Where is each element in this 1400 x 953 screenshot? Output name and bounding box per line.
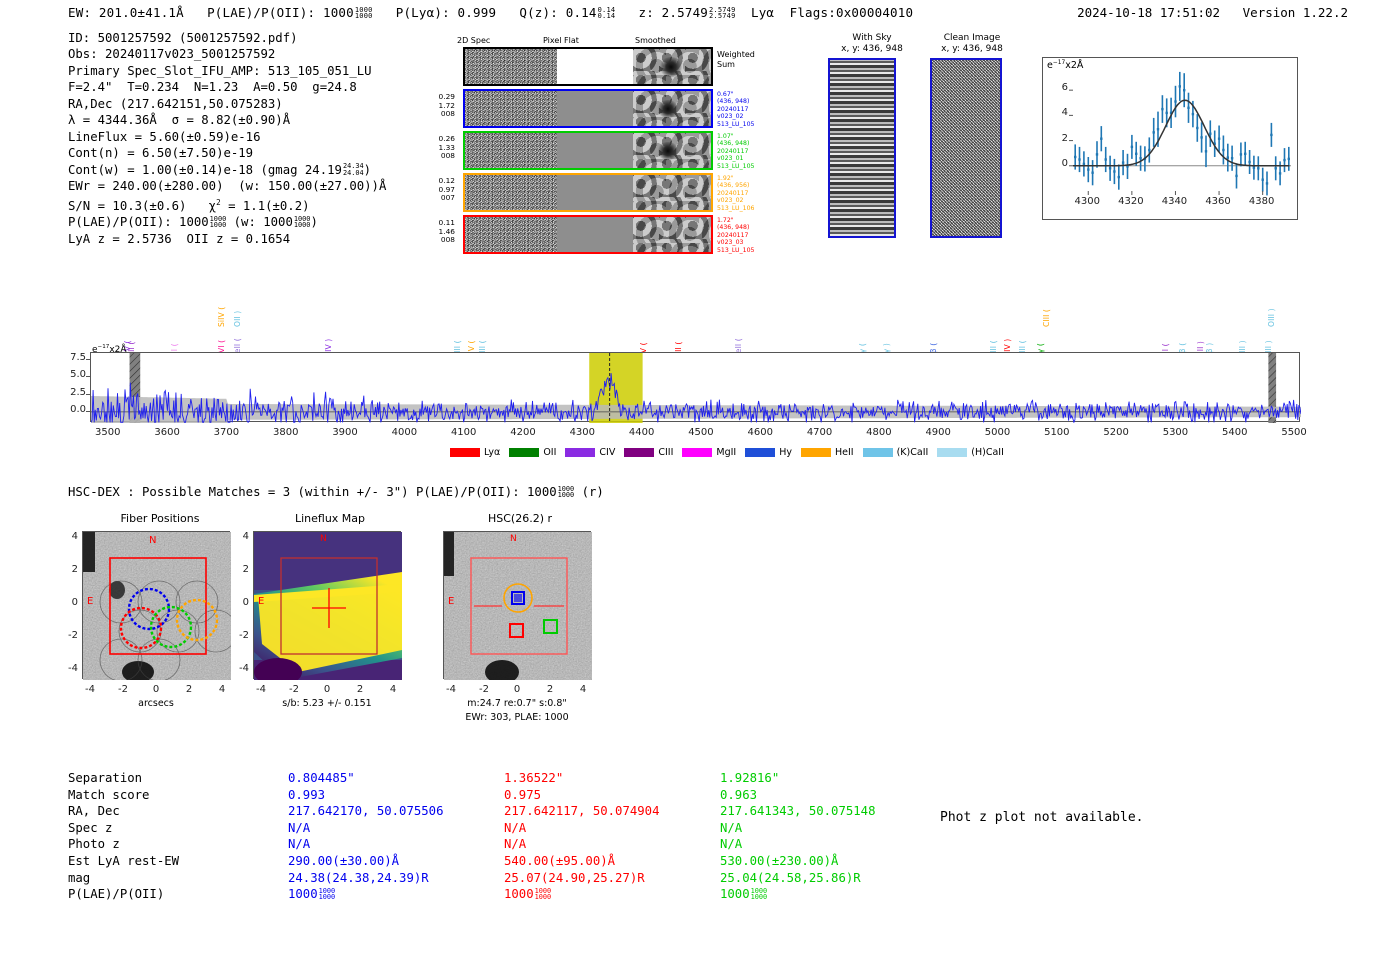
match-row-label: Photo z xyxy=(68,836,179,853)
ws-smoothed-image xyxy=(633,49,711,84)
spectrum-xtick: 4900 xyxy=(916,427,960,438)
fiber-emission-blob xyxy=(657,100,679,118)
match-value: 290.00(±30.00)Å xyxy=(288,853,443,870)
lower-xtick: 0 xyxy=(143,684,169,695)
emission-line-label: OIII ) xyxy=(1267,308,1276,327)
inset-ytick: 2 xyxy=(1052,133,1068,144)
header-z: z: 2.5749 xyxy=(638,5,708,20)
info-plae-w-dn: 1000 xyxy=(294,222,311,228)
inset-xtick: 4340 xyxy=(1157,196,1191,207)
legend-swatch xyxy=(565,448,595,457)
spectrum-xtick: 4200 xyxy=(501,427,545,438)
emission-line-label: CIII ( xyxy=(1042,309,1051,327)
match-value: 0.975 xyxy=(504,787,659,804)
fiber-smoothed-image xyxy=(633,91,711,126)
fiber-meta: 513_LU_105 xyxy=(717,163,761,170)
compass-north-fiber: N xyxy=(149,535,156,546)
match-row-label: Spec z xyxy=(68,820,179,837)
inset-ytick: 4 xyxy=(1052,107,1068,118)
spectrum-xtick: 4300 xyxy=(560,427,604,438)
header-ew: EW: 201.0±41.1Å xyxy=(68,5,184,20)
panel-title-lineflux-map: Lineflux Map xyxy=(230,512,430,525)
inset-ytick: 0 xyxy=(1052,158,1068,169)
fiber-pixelflat-image xyxy=(557,91,633,126)
hsc-r-caption-1: m:24.7 re:0.7" s:0.8" xyxy=(443,698,591,709)
match-row-label: Separation xyxy=(68,770,179,787)
fiber-meta: 1.07" xyxy=(717,133,761,140)
spectrum-xtick: 5000 xyxy=(976,427,1020,438)
hscdex-header-dn: 1000 xyxy=(558,492,575,498)
spectrum-xtick: 4500 xyxy=(679,427,723,438)
full-spectrum-chart xyxy=(90,352,1300,422)
legend-swatch xyxy=(801,448,831,457)
spectrum-ytick-mark xyxy=(86,411,90,412)
lower-xtick: 4 xyxy=(380,684,406,695)
lower-xtick: -2 xyxy=(281,684,307,695)
match-row-label: mag xyxy=(68,870,179,887)
emission-line-label: OII ) xyxy=(233,311,242,327)
hsc-r-svg xyxy=(444,532,592,680)
fiber-2dspec-image xyxy=(465,133,557,168)
lower-xtick: 4 xyxy=(209,684,235,695)
header-qz: Q(z): 0.14 xyxy=(519,5,596,20)
fiber-pixelflat-image xyxy=(557,175,633,210)
match-value: N/A xyxy=(288,820,443,837)
match-row-label: RA, Dec xyxy=(68,803,179,820)
fiber-positions-svg xyxy=(83,532,231,680)
legend-item: Hy xyxy=(745,447,792,458)
lower-ytick: 4 xyxy=(229,531,249,542)
clean-image xyxy=(930,58,1002,238)
spectrum-xtick: 3500 xyxy=(86,427,130,438)
header-plae-dn: 1000 xyxy=(355,13,373,19)
legend-label: Lyα xyxy=(484,447,500,458)
header-datetime: 2024-10-18 17:51:02 xyxy=(1077,5,1220,20)
legend-item: MgII xyxy=(682,447,736,458)
fiber-2dspec-image xyxy=(465,91,557,126)
match-column: 0.804485"0.993217.642170, 50.075506N/AN/… xyxy=(288,770,443,903)
compass-east-hsc: E xyxy=(448,596,454,607)
lineflux-map-svg xyxy=(254,532,402,680)
fiber-meta: 513_LU_105 xyxy=(717,247,761,254)
ws-emission-blob xyxy=(659,57,683,77)
match-plae: 100010001000 xyxy=(720,886,875,903)
spectrum-xtick: 3900 xyxy=(323,427,367,438)
inset-xtick: 4320 xyxy=(1114,196,1148,207)
fiber-right-meta: 1.07"(436, 948)20240117v023_01513_LU_105 xyxy=(717,133,761,170)
legend-item: Lyα xyxy=(450,447,500,458)
match-value: 24.38(24.38,24.39)R xyxy=(288,870,443,887)
info-obs: Obs: 20240117v023_5001257592 xyxy=(68,46,386,62)
info-seeing: F=2.4" T=0.234 N=1.23 A=0.50 g=24.8 xyxy=(68,79,386,95)
spectrum-xtick: 5400 xyxy=(1213,427,1257,438)
lower-ytick: 4 xyxy=(58,531,78,542)
with-sky-image xyxy=(828,58,896,238)
info-id: ID: 5001257592 (5001257592.pdf) xyxy=(68,30,386,46)
fiber-right-meta: 1.72"(436, 948)20240117v023_03513_LU_105 xyxy=(717,217,761,254)
match-value: 0.993 xyxy=(288,787,443,804)
match-column: 1.36522"0.975217.642117, 50.074904N/AN/A… xyxy=(504,770,659,903)
match-value: 217.641343, 50.075148 xyxy=(720,803,875,820)
lower-ytick: -4 xyxy=(229,663,249,674)
fiber-right-meta: 1.92"(436, 956)20240117v023_02513_LU_106 xyxy=(717,175,761,212)
spectrum-xtick: 5100 xyxy=(1035,427,1079,438)
lower-xtick: 0 xyxy=(504,684,530,695)
header-flags: Flags:0x00004010 xyxy=(790,5,914,20)
info-cont-w-pre: Cont(w) = 1.00(±0.14)e-18 (gmag 24.19 xyxy=(68,163,342,177)
match-value: 1.36522" xyxy=(504,770,659,787)
info-primary-spec: Primary Spec_Slot_IFU_AMP: 513_105_051_L… xyxy=(68,63,386,79)
lower-xtick: -4 xyxy=(248,684,274,695)
spectrum-ytick: 5.0 xyxy=(58,369,86,380)
fiber-stat: 008 xyxy=(425,236,455,245)
matches-row-labels: SeparationMatch scoreRA, DecSpec zPhoto … xyxy=(68,770,179,903)
fiber-smoothed-image xyxy=(633,133,711,168)
legend-item: CIV xyxy=(565,447,615,458)
header-z-dn: 2.5749 xyxy=(709,13,736,19)
lineflux-map-caption: s/b: 5.23 +/- 0.151 xyxy=(253,698,401,709)
lower-xtick: 4 xyxy=(570,684,596,695)
match-value: N/A xyxy=(504,836,659,853)
weighted-sum-label: Weighted Sum xyxy=(717,50,755,69)
spectrum-ytick: 7.5 xyxy=(58,352,86,363)
fiber-right-meta: 0.67"(436, 948)20240117v023_02513_LU_105 xyxy=(717,91,761,128)
fiber-positions-caption: arcsecs xyxy=(82,698,230,709)
legend-swatch xyxy=(682,448,712,457)
header-lya: Lyα xyxy=(751,5,774,20)
match-value: N/A xyxy=(504,820,659,837)
fiber-strip xyxy=(463,173,713,212)
spectrum-ytick-mark xyxy=(86,376,90,377)
emission-line-legend: Lyα OII CIV CIII MgII Hy HeII (K)CaII (H… xyxy=(450,447,1004,458)
match-value: 0.804485" xyxy=(288,770,443,787)
hsc-r-image: N E xyxy=(443,531,591,679)
fiber-meta: 513_LU_105 xyxy=(717,121,761,128)
hsc-r-caption-2: EWr: 303, PLAE: 1000 xyxy=(443,712,591,723)
match-row-label: P(LAE)/P(OII) xyxy=(68,886,179,903)
fiber-smoothed-image xyxy=(633,217,711,252)
fiber-meta: 20240117 xyxy=(717,190,761,197)
spectrum-flux-units: e−17x2Å xyxy=(92,344,127,355)
header-version: Version 1.22.2 xyxy=(1243,5,1348,20)
info-cont-w-post: ) xyxy=(364,163,371,177)
two-d-spectrum-panel: 2D Spec Pixel Flat Smoothed Weighted Sum… xyxy=(425,36,785,252)
header-plae: P(LAE)/P(OII): 1000 xyxy=(207,5,354,20)
match-value: N/A xyxy=(720,836,875,853)
legend-label: CIV xyxy=(599,447,615,458)
info-cont-n: Cont(n) = 6.50(±7.50)e-19 xyxy=(68,145,386,161)
spectrum-xtick: 4600 xyxy=(738,427,782,438)
compass-north-lfmap: N xyxy=(320,534,327,544)
cutout-with-sky-title: With Sky xyxy=(852,33,891,43)
spectrum-xtick: 5200 xyxy=(1094,427,1138,438)
lineflux-map-image: N E xyxy=(253,531,401,679)
match-value: N/A xyxy=(720,820,875,837)
hscdex-header-post: (r) xyxy=(574,485,604,499)
fiber-meta: (436, 948) xyxy=(717,224,761,231)
info-plae-dn: 1000 xyxy=(210,222,227,228)
lower-xtick: -4 xyxy=(438,684,464,695)
lower-ytick: 0 xyxy=(58,597,78,608)
spectrum-ytick: 2.5 xyxy=(58,387,86,398)
match-row-label: Match score xyxy=(68,787,179,804)
info-plae: P(LAE)/P(OII): 100010001000 (w: 10001000… xyxy=(68,214,386,230)
cutout-clean-coords: x, y: 436, 948 xyxy=(941,44,1003,54)
fiber-meta: 20240117 xyxy=(717,232,761,239)
fiber-meta: v023_03 xyxy=(717,239,761,246)
spectrum-ytick-mark xyxy=(86,359,90,360)
spectrum-xtick: 3600 xyxy=(145,427,189,438)
match-value: 217.642170, 50.075506 xyxy=(288,803,443,820)
legend-label: HeII xyxy=(835,447,854,458)
legend-label: OII xyxy=(543,447,556,458)
spectrum-ytick-mark xyxy=(86,394,90,395)
lower-ytick: -4 xyxy=(58,663,78,674)
lower-xtick: 2 xyxy=(176,684,202,695)
photz-unavailable-note: Phot z plot not available. xyxy=(940,810,1144,825)
match-value: 530.00(±230.00)Å xyxy=(720,853,875,870)
full-spectrum-svg xyxy=(91,353,1301,423)
header-datetime-version: 2024-10-18 17:51:02 Version 1.22.2 xyxy=(1077,5,1348,20)
info-radec: RA,Dec (217.642151,50.075283) xyxy=(68,96,386,112)
inset-xtick: 4300 xyxy=(1070,196,1104,207)
compass-north-hsc: N xyxy=(510,534,517,544)
fiber-strip xyxy=(463,89,713,128)
legend-item: (K)CaII xyxy=(863,447,929,458)
legend-swatch xyxy=(624,448,654,457)
match-value: 0.963 xyxy=(720,787,875,804)
match-plae: 100010001000 xyxy=(288,886,443,903)
fiber-left-stats: 0.261.33008 xyxy=(425,135,455,161)
spectrum-xtick: 4400 xyxy=(620,427,664,438)
fiber-strip xyxy=(463,215,713,254)
match-value: 1.92816" xyxy=(720,770,875,787)
legend-item: HeII xyxy=(801,447,854,458)
lower-xtick: -2 xyxy=(110,684,136,695)
fiber-emission-blob xyxy=(657,142,679,160)
fiber-meta: (436, 956) xyxy=(717,182,761,189)
legend-label: CIII xyxy=(658,447,673,458)
spectrum-xtick: 4000 xyxy=(382,427,426,438)
match-value: 217.642117, 50.074904 xyxy=(504,803,659,820)
fiber-2dspec-image xyxy=(465,217,557,252)
info-redshifts: LyA z = 2.5736 OII z = 0.1654 xyxy=(68,231,386,247)
legend-label: Hy xyxy=(779,447,792,458)
ws-pixelflat-image xyxy=(557,49,633,84)
header-plya: P(Lyα): 0.999 xyxy=(396,5,496,20)
fiber-meta: v023_01 xyxy=(717,155,761,162)
fiber-2dspec-image xyxy=(465,175,557,210)
info-ewr: EWr = 240.00(±280.00) (w: 150.00(±27.00)… xyxy=(68,178,386,194)
hscdex-header-text: HSC-DEX : Possible Matches = 3 (within +… xyxy=(68,485,557,499)
spectrum-xtick: 4100 xyxy=(442,427,486,438)
legend-label: (H)CaII xyxy=(971,447,1004,458)
lower-xtick: 2 xyxy=(347,684,373,695)
legend-label: (K)CaII xyxy=(897,447,929,458)
fiber-meta: v023_02 xyxy=(717,197,761,204)
lower-ytick: -2 xyxy=(229,630,249,641)
weighted-sum-strip xyxy=(463,47,713,86)
match-column: 1.92816"0.963217.641343, 50.075148N/AN/A… xyxy=(720,770,875,903)
emission-line-label: SiIV ( xyxy=(217,307,226,327)
cutout-title-clean-image: Clean Image x, y: 436, 948 xyxy=(922,33,1022,55)
fiber-meta: 0.67" xyxy=(717,91,761,98)
match-plae-dn: 1000 xyxy=(319,894,336,900)
spectrum-ytick: 0.0 xyxy=(58,404,86,415)
info-lineflux: LineFlux = 5.60(±0.59)e-16 xyxy=(68,129,386,145)
legend-swatch xyxy=(509,448,539,457)
source-info-block: ID: 5001257592 (5001257592.pdf) Obs: 202… xyxy=(68,30,386,247)
match-row-label: Est LyA rest-EW xyxy=(68,853,179,870)
match-plae: 100010001000 xyxy=(504,886,659,903)
lower-xtick: -4 xyxy=(77,684,103,695)
match-value: 540.00(±95.00)Å xyxy=(504,853,659,870)
panel-title-smoothed: Smoothed xyxy=(635,36,676,45)
hscdex-header: HSC-DEX : Possible Matches = 3 (within +… xyxy=(68,485,604,499)
spectrum-xtick: 3800 xyxy=(264,427,308,438)
legend-swatch xyxy=(937,448,967,457)
legend-item: OII xyxy=(509,447,556,458)
match-value: 25.07(24.90,25.27)R xyxy=(504,870,659,887)
fiber-left-stats: 0.291.72008 xyxy=(425,93,455,119)
fiber-positions-image: N E xyxy=(82,531,230,679)
spectrum-xtick: 5500 xyxy=(1272,427,1316,438)
lower-ytick: 2 xyxy=(229,564,249,575)
panel-title-pixel-flat: Pixel Flat xyxy=(543,36,579,45)
cutout-title-with-sky: With Sky x, y: 436, 948 xyxy=(826,33,918,55)
fiber-meta: 1.92" xyxy=(717,175,761,182)
inset-xtick: 4380 xyxy=(1245,196,1279,207)
fiber-stat: 008 xyxy=(425,110,455,119)
lower-xtick: 0 xyxy=(314,684,340,695)
compass-east-lfmap: E xyxy=(258,596,264,607)
fiber-meta: 20240117 xyxy=(717,106,761,113)
fiber-stat: 007 xyxy=(425,194,455,203)
cutout-clean-title: Clean Image xyxy=(944,33,1001,43)
spectrum-xtick: 3700 xyxy=(204,427,248,438)
lower-xtick: 2 xyxy=(537,684,563,695)
lower-ytick: -2 xyxy=(58,630,78,641)
legend-swatch xyxy=(863,448,893,457)
match-value: N/A xyxy=(288,836,443,853)
info-plae-post: ) xyxy=(310,215,317,229)
match-value: 25.04(24.58,25.86)R xyxy=(720,870,875,887)
fiber-meta: (436, 948) xyxy=(717,140,761,147)
info-snr-chi2: S/N = 10.3(±0.6) χ2 = 1.1(±0.2) xyxy=(68,195,386,215)
inset-ytick: 6 xyxy=(1052,82,1068,93)
inset-xtick: 4360 xyxy=(1201,196,1235,207)
spectrum-xtick: 4800 xyxy=(857,427,901,438)
fiber-pixelflat-image xyxy=(557,217,633,252)
info-plae-pre: P(LAE)/P(OII): 1000 xyxy=(68,215,209,229)
fiber-meta: 20240117 xyxy=(717,148,761,155)
legend-item: (H)CaII xyxy=(937,447,1004,458)
fiber-meta: 1.72" xyxy=(717,217,761,224)
fiber-meta: 513_LU_106 xyxy=(717,205,761,212)
header-qz-dn: 0.14 xyxy=(598,13,616,19)
info-snr-pre: S/N = 10.3(±0.6) χ xyxy=(68,199,216,213)
matches-table: SeparationMatch scoreRA, DecSpec zPhoto … xyxy=(68,770,179,903)
lower-ytick: 0 xyxy=(229,597,249,608)
lower-ytick: 2 xyxy=(58,564,78,575)
fiber-meta: v023_02 xyxy=(717,113,761,120)
legend-swatch xyxy=(745,448,775,457)
header-summary-line: EW: 201.0±41.1Å P(LAE)/P(OII): 100010001… xyxy=(68,5,913,20)
fiber-stat: 008 xyxy=(425,152,455,161)
lower-xtick: -2 xyxy=(471,684,497,695)
legend-label: MgII xyxy=(716,447,736,458)
fiber-left-stats: 0.111.46008 xyxy=(425,219,455,245)
spectrum-xtick: 5300 xyxy=(1153,427,1197,438)
match-plae-dn: 1000 xyxy=(751,894,768,900)
info-cont-w: Cont(w) = 1.00(±0.14)e-18 (gmag 24.1924.… xyxy=(68,162,386,178)
fiber-pixelflat-image xyxy=(557,133,633,168)
panel-title-hsc-r: HSC(26.2) r xyxy=(420,512,620,525)
info-chi2-post: = 1.1(±0.2) xyxy=(221,199,310,213)
fiber-meta: (436, 948) xyxy=(717,98,761,105)
info-cont-w-dn: 24.04 xyxy=(343,170,364,176)
match-plae-dn: 1000 xyxy=(535,894,552,900)
info-wavelength-sigma: λ = 4344.36Å σ = 8.82(±0.90)Å xyxy=(68,112,386,128)
legend-swatch xyxy=(450,448,480,457)
legend-item: CIII xyxy=(624,447,673,458)
info-plae-mid: (w: 1000 xyxy=(226,215,293,229)
compass-east-fiber: E xyxy=(87,596,93,607)
fiber-left-stats: 0.120.97007 xyxy=(425,177,455,203)
panel-title-2d-spec: 2D Spec xyxy=(457,36,490,45)
cutout-with-sky-coords: x, y: 436, 948 xyxy=(841,44,903,54)
spectrum-xtick: 4700 xyxy=(798,427,842,438)
ws-2dspec-image xyxy=(465,49,557,84)
fiber-strip xyxy=(463,131,713,170)
fiber-smoothed-image xyxy=(633,175,711,210)
